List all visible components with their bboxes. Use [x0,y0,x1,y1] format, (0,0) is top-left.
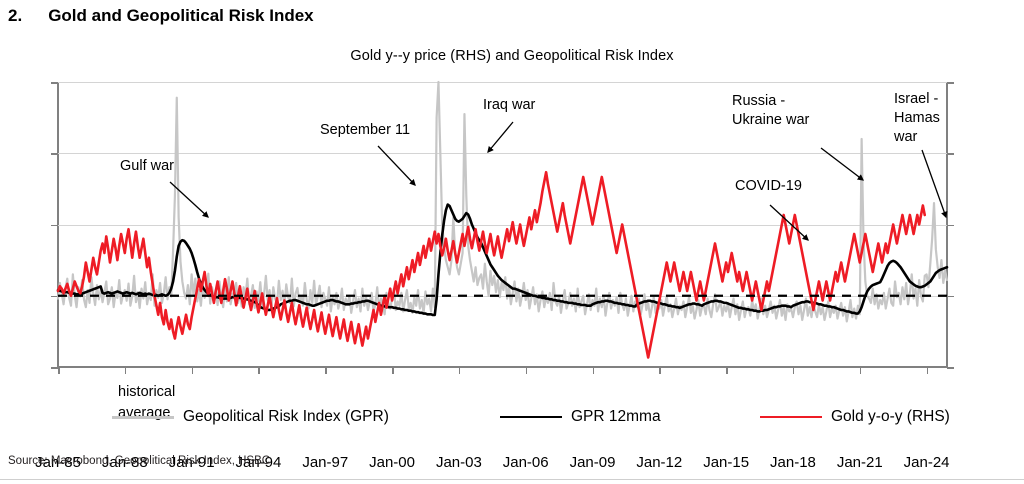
x-axis-tick [258,367,260,374]
chart-subtitle: Gold y--y price (RHS) and Geopolitical R… [0,48,1024,64]
y-axis-left-tick [51,225,58,227]
x-axis-tick [726,367,728,374]
title-number: 2. [8,6,22,26]
y-axis-left-tick [51,296,58,298]
y-axis-left-tick [51,82,58,84]
annotation-russia-ukraine-war-line2: Ukraine war [732,111,809,130]
x-axis-tick [325,367,327,374]
annotation-gulf-war: Gulf war [120,157,174,176]
annotation-israel-hamas-war-line1: Israel - [894,90,940,109]
arrow-russia-ukraine-war [821,148,863,180]
x-axis-tick [927,367,929,374]
legend-label: Geopolitical Risk Index (GPR) [183,408,389,426]
legend-item-geopolitical-risk-index-gpr[interactable]: Geopolitical Risk Index (GPR) [112,408,389,426]
annotation-september-11: September 11 [320,121,410,140]
arrow-covid-19 [770,205,808,240]
y-axis-right-tick [947,153,954,155]
legend-swatch [500,416,562,418]
legend-label: Gold y-o-y (RHS) [831,408,950,426]
annotation-russia-ukraine-war-line1: Russia - [732,92,809,111]
annotation-russia-ukraine-war: Russia - Ukraine war [732,92,809,130]
x-axis-tick [526,367,528,374]
source-note: Source: Macrobond, Geopolitical Risk Ind… [8,455,270,467]
legend-item-gold-y-o-y-rhs[interactable]: Gold y-o-y (RHS) [760,408,950,426]
y-axis-left-tick [51,153,58,155]
x-axis-tick-label: Jan-24 [872,454,982,471]
footer-divider [0,479,1024,480]
arrow-iraq-war [488,122,513,152]
annotation-israel-hamas-war-line2: Hamas [894,109,940,128]
legend-swatch [760,416,822,418]
x-axis-tick [793,367,795,374]
x-axis-tick [659,367,661,374]
x-axis-tick [392,367,394,374]
arrow-september-11 [378,146,415,185]
annotation-september-11-line1: September 11 [320,121,410,140]
title-text: Gold and Geopolitical Risk Index [48,6,313,26]
legend-swatch [112,416,174,419]
y-axis-left-tick [51,367,58,369]
x-axis-tick [860,367,862,374]
historical-average-line1: historical [118,382,175,403]
chart-legend: Geopolitical Risk Index (GPR)GPR 12mmaGo… [0,405,1024,435]
x-axis-tick [593,367,595,374]
chart-plot-area: 0100200300400 -30%0%30%60%90% Jan-85Jan-… [58,82,947,367]
y-axis-right-tick [947,296,954,298]
x-axis-tick [459,367,461,374]
legend-label: GPR 12mma [571,408,661,426]
x-axis-tick [125,367,127,374]
y-axis-right-tick [947,225,954,227]
legend-item-gpr-12mma[interactable]: GPR 12mma [500,408,661,426]
annotation-israel-hamas-war-line3: war [894,128,940,147]
x-axis-tick [192,367,194,374]
y-axis-right-tick [947,82,954,84]
annotation-israel-hamas-war: Israel - Hamas war [894,90,940,147]
y-axis-right-tick [947,367,954,369]
annotation-covid-19: COVID-19 [735,177,802,196]
series-gpr-12mma [58,205,947,315]
annotation-gulf-war-line1: Gulf war [120,157,174,176]
page-title: 2. Gold and Geopolitical Risk Index [8,6,314,26]
series-canvas [58,82,947,367]
annotation-covid-19-line1: COVID-19 [735,177,802,196]
annotation-iraq-war-line1: Iraq war [483,96,535,115]
x-axis-tick [58,367,60,374]
annotation-iraq-war: Iraq war [483,96,535,115]
